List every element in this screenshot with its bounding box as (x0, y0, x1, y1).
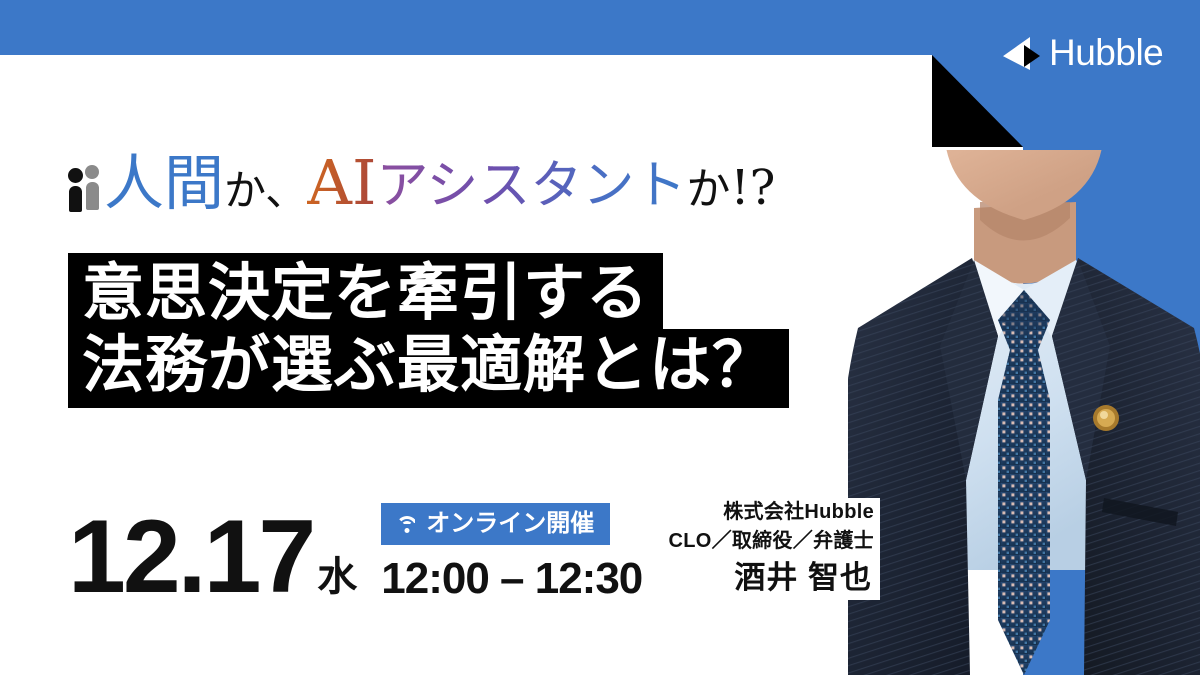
two-people-icon (68, 156, 102, 214)
hubble-logo-mark (1003, 33, 1043, 73)
speaker-role: CLO／取締役／弁護士 (658, 527, 880, 556)
speaker-organization: 株式会社Hubble (713, 498, 880, 527)
hubble-logo[interactable]: Hubble (1003, 33, 1163, 73)
catch-or: か、 (224, 170, 307, 214)
catch-assistant: アシスタント (376, 160, 686, 214)
headline-line-2: 法務が選ぶ最適解とは？ (68, 329, 789, 409)
hubble-logo-text: Hubble (1049, 34, 1163, 71)
speaker-portrait (848, 150, 1200, 675)
catch-human: 人間 (104, 154, 224, 214)
speaker-info: 株式会社Hubble CLO／取締役／弁護士 酒井 智也 (0, 498, 880, 600)
headline-line-1: 意思決定を牽引する (68, 253, 663, 331)
catch-or2: か (686, 168, 730, 214)
webinar-banner: Hubble 人間 か、 AI アシスタント か !? 意思決定を牽引する 法務… (0, 0, 1200, 675)
catch-ai: AI (307, 152, 376, 214)
speaker-name: 酒井 智也 (722, 556, 880, 600)
headline: 意思決定を牽引する 法務が選ぶ最適解とは？ (68, 253, 789, 408)
catch-copy: 人間 か、 AI アシスタント か !? (68, 152, 775, 214)
triangle-right-black-icon (1024, 45, 1040, 67)
catch-bang: !? (730, 164, 775, 214)
